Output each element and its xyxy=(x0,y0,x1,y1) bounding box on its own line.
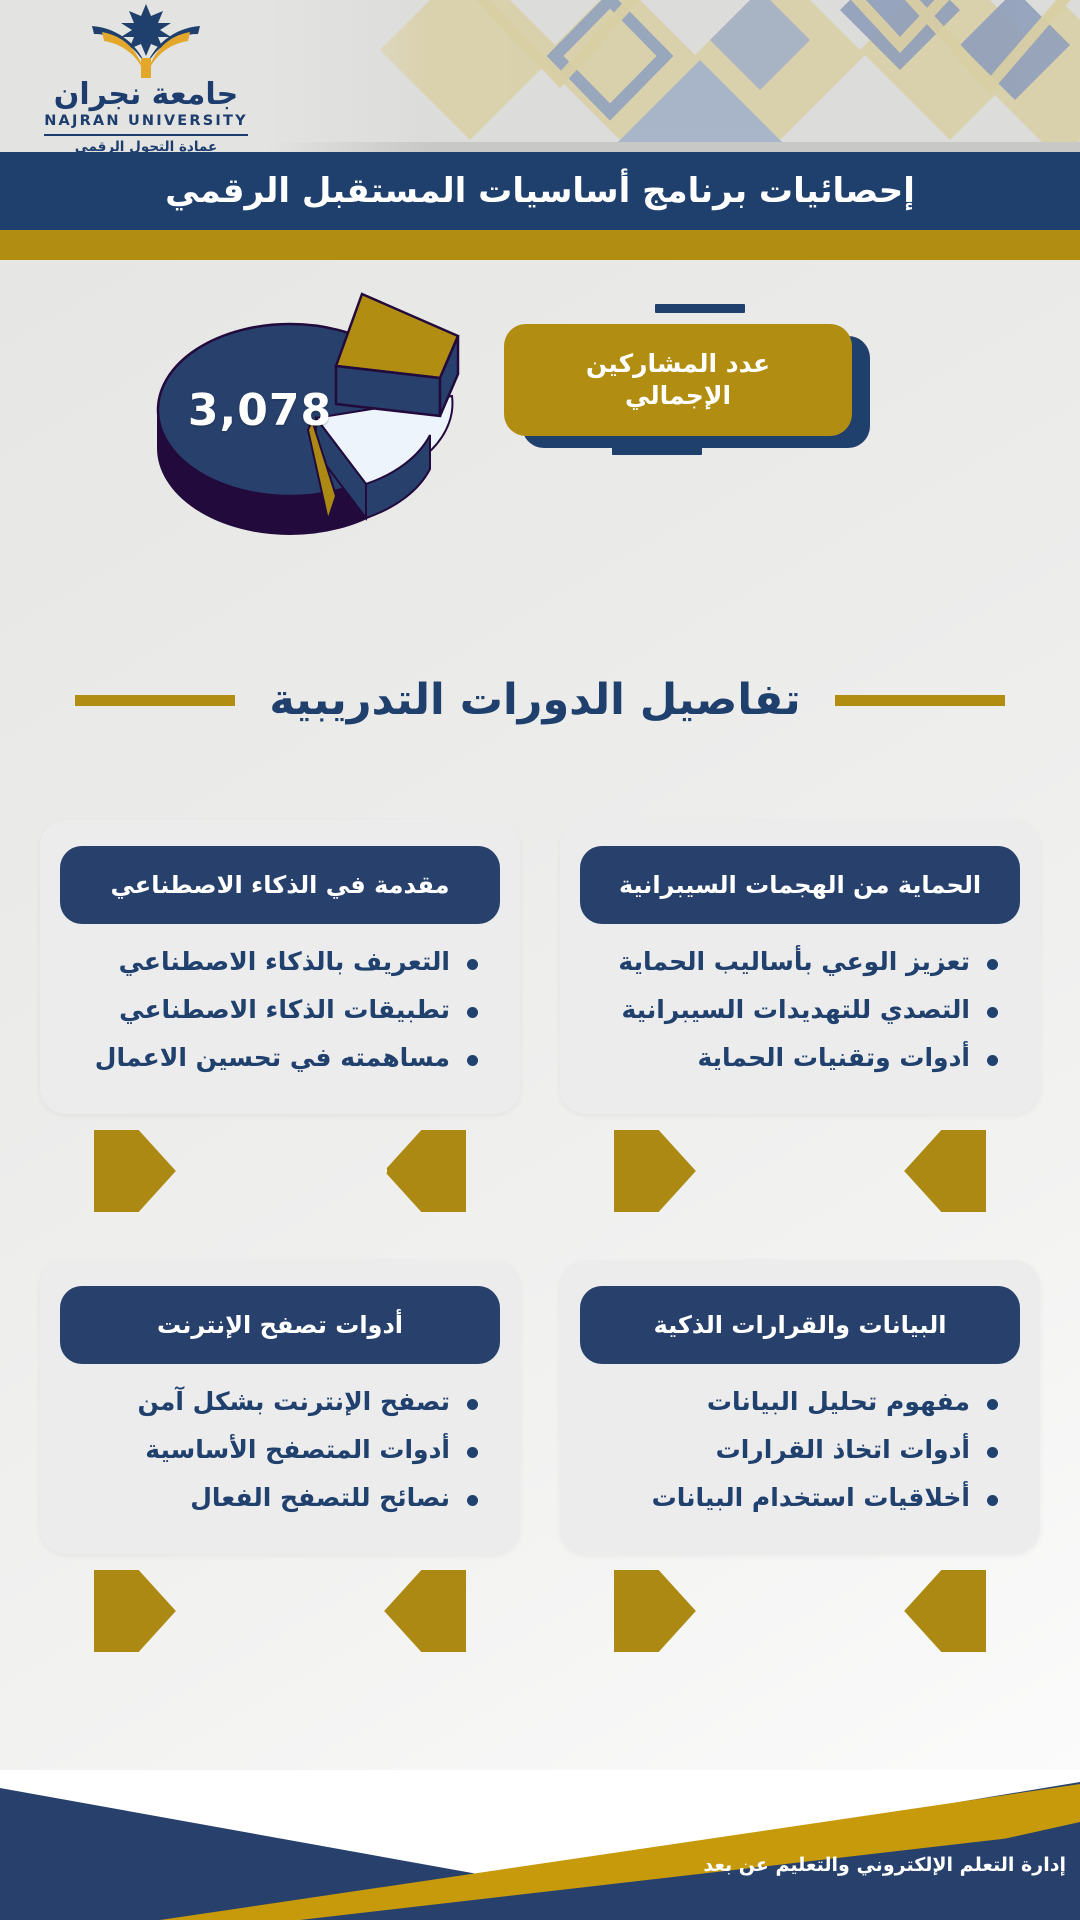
course-card[interactable]: البيانات والقرارات الذكية مفهوم تحليل ال… xyxy=(560,1260,1040,1554)
course-topics-list: التعريف بالذكاء الاصطناعي تطبيقات الذكاء… xyxy=(60,946,500,1074)
pie-total-value: 3,078 xyxy=(170,385,350,436)
university-logo: جامعة نجران NAJRAN UNIVERSITY عمادة التح… xyxy=(16,4,276,152)
course-cell-0: الحماية من الهجمات السيبرانية تعزيز الوع… xyxy=(560,820,1040,1212)
course-title: أدوات تصفح الإنترنت xyxy=(157,1310,403,1340)
course-title-badge: الحماية من الهجمات السيبرانية xyxy=(580,846,1020,924)
header-title-bar: إحصائيات برنامج أساسيات المستقبل الرقمي xyxy=(0,152,1080,230)
callout-line-1: عدد المشاركين xyxy=(586,348,770,380)
list-item: نصائح للتصفح الفعال xyxy=(68,1482,484,1514)
list-item: أدوات المتصفح الأساسية xyxy=(68,1434,484,1466)
course-cell-1: مقدمة في الذكاء الاصطناعي التعريف بالذكا… xyxy=(40,820,520,1212)
callout-dash-bottom xyxy=(612,446,702,455)
footer-graphic-icon xyxy=(0,1770,1080,1920)
courses-grid: الحماية من الهجمات السيبرانية تعزيز الوع… xyxy=(0,820,1080,1720)
top-decorative-band: جامعة نجران NAJRAN UNIVERSITY عمادة التح… xyxy=(0,0,1080,152)
course-topics-list: مفهوم تحليل البيانات أدوات اتخاذ القرارا… xyxy=(580,1386,1020,1514)
gold-divider-bar xyxy=(0,230,1080,260)
total-participants-callout: عدد المشاركين الإجمالي xyxy=(500,318,870,448)
page-title: إحصائيات برنامج أساسيات المستقبل الرقمي xyxy=(165,171,915,211)
course-title-badge: أدوات تصفح الإنترنت xyxy=(60,1286,500,1364)
beneficiaries-count: 605 مستفيد xyxy=(707,1154,893,1189)
open-book-icon xyxy=(66,4,226,82)
callout-box: عدد المشاركين الإجمالي xyxy=(504,324,852,436)
beneficiaries-ribbon: 773 مستفيد xyxy=(614,1570,986,1652)
course-card[interactable]: أدوات تصفح الإنترنت تصفح الإنترنت بشكل آ… xyxy=(40,1260,520,1554)
course-title-badge: مقدمة في الذكاء الاصطناعي xyxy=(60,846,500,924)
list-item: مفهوم تحليل البيانات xyxy=(588,1386,1004,1418)
page-footer: إدارة التعلم الإلكتروني والتعليم عن بعد xyxy=(0,1770,1080,1920)
infographic-page: جامعة نجران NAJRAN UNIVERSITY عمادة التح… xyxy=(0,0,1080,1920)
department-line-1: عمادة التحول الرقمي xyxy=(16,139,276,152)
courses-section-heading: تفاصيل الدورات التدريبية xyxy=(0,660,1080,740)
list-item: تصفح الإنترنت بشكل آمن xyxy=(68,1386,484,1418)
course-title: الحماية من الهجمات السيبرانية xyxy=(619,870,981,900)
course-title: مقدمة في الذكاء الاصطناعي xyxy=(111,870,450,900)
university-name-ar: جامعة نجران xyxy=(16,80,276,110)
course-title-badge: البيانات والقرارات الذكية xyxy=(580,1286,1020,1364)
callout-dash-top xyxy=(655,304,745,313)
list-item: أدوات وتقنيات الحماية xyxy=(588,1042,1004,1074)
callout-line-2: الإجمالي xyxy=(625,380,731,412)
beneficiaries-ribbon: 1,039 مستفيد xyxy=(94,1130,466,1212)
logo-mark xyxy=(66,4,226,82)
section-title: تفاصيل الدورات التدريبية xyxy=(269,675,800,725)
course-cell-3: أدوات تصفح الإنترنت تصفح الإنترنت بشكل آ… xyxy=(40,1260,520,1652)
list-item: تطبيقات الذكاء الاصطناعي xyxy=(68,994,484,1026)
list-item: التصدي للتهديدات السيبرانية xyxy=(588,994,1004,1026)
beneficiaries-ribbon: 605 مستفيد xyxy=(614,1130,986,1212)
beneficiaries-count: 661 مستفيد xyxy=(187,1594,373,1629)
course-title: البيانات والقرارات الذكية xyxy=(654,1310,947,1340)
participants-pie-chart: 3,078 xyxy=(140,270,470,540)
course-card[interactable]: الحماية من الهجمات السيبرانية تعزيز الوع… xyxy=(560,820,1040,1114)
list-item: أخلاقيات استخدام البيانات xyxy=(588,1482,1004,1514)
list-item: مساهمته في تحسين الاعمال xyxy=(68,1042,484,1074)
list-item: التعريف بالذكاء الاصطناعي xyxy=(68,946,484,978)
beneficiaries-ribbon: 661 مستفيد xyxy=(94,1570,466,1652)
list-item: تعزيز الوعي بأساليب الحماية xyxy=(588,946,1004,978)
heading-rule-right xyxy=(835,695,1005,706)
course-card[interactable]: مقدمة في الذكاء الاصطناعي التعريف بالذكا… xyxy=(40,820,520,1114)
heading-rule-left xyxy=(75,695,235,706)
footer-text: إدارة التعلم الإلكتروني والتعليم عن بعد xyxy=(703,1854,1066,1876)
course-cell-2: البيانات والقرارات الذكية مفهوم تحليل ال… xyxy=(560,1260,1040,1652)
list-item: أدوات اتخاذ القرارات xyxy=(588,1434,1004,1466)
university-name-en: NAJRAN UNIVERSITY xyxy=(44,112,248,136)
course-topics-list: تصفح الإنترنت بشكل آمن أدوات المتصفح الأ… xyxy=(60,1386,500,1514)
beneficiaries-count: 773 مستفيد xyxy=(707,1594,893,1629)
course-topics-list: تعزيز الوعي بأساليب الحماية التصدي للتهد… xyxy=(580,946,1020,1074)
beneficiaries-count: 1,039 مستفيد xyxy=(171,1154,389,1189)
